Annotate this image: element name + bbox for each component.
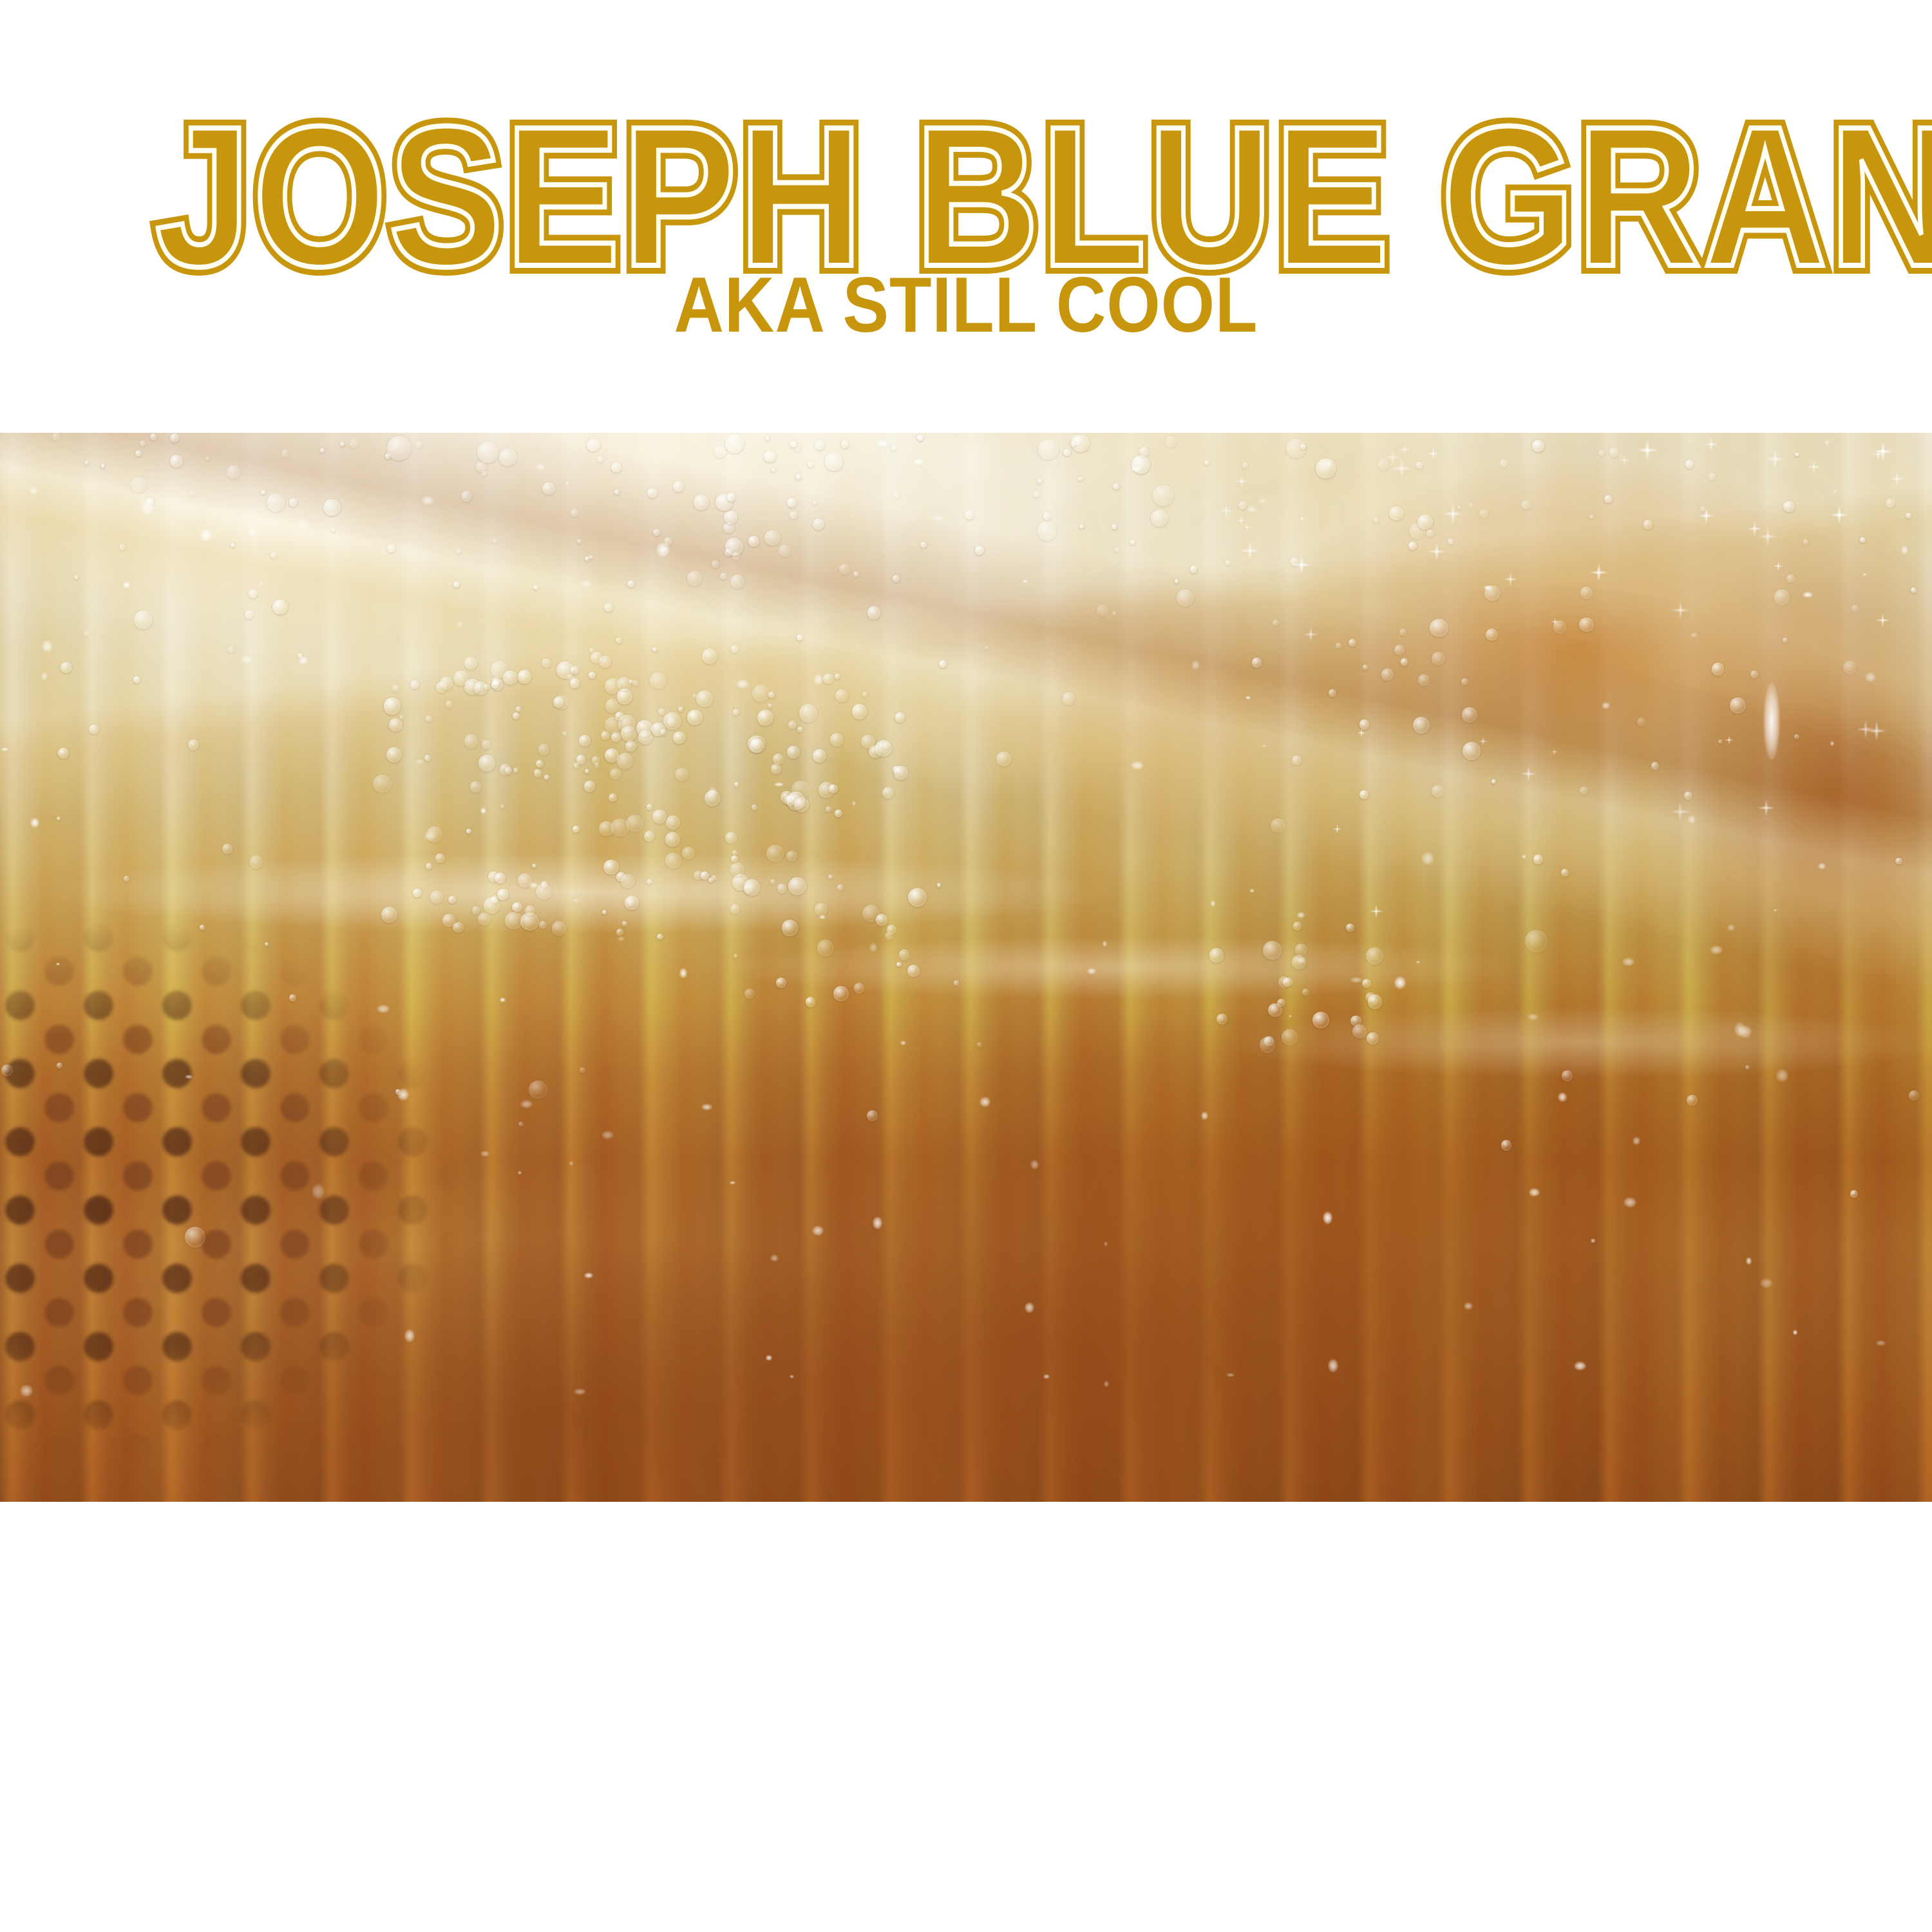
sparkle-highlight bbox=[1437, 498, 1468, 529]
honey-bubble bbox=[1418, 674, 1430, 686]
sparkle-highlight bbox=[1235, 535, 1265, 566]
honey-bubble bbox=[205, 457, 209, 460]
honey-bubble bbox=[552, 921, 566, 935]
honey-bubble bbox=[1177, 589, 1194, 607]
honey-bubble bbox=[611, 462, 621, 473]
specular-glint bbox=[730, 1181, 735, 1184]
honey-bubble bbox=[765, 436, 770, 440]
honey-bubble bbox=[628, 901, 632, 905]
honey-bubble bbox=[456, 549, 461, 554]
honey-bubble bbox=[712, 560, 719, 568]
specular-glint bbox=[679, 968, 688, 978]
honey-bubble bbox=[587, 439, 600, 452]
specular-glint bbox=[1043, 1374, 1050, 1379]
honey-bubble bbox=[939, 660, 946, 667]
honey-bubble bbox=[673, 481, 684, 492]
honey-bubble bbox=[830, 733, 844, 746]
specular-glint bbox=[565, 481, 569, 485]
honey-bubble bbox=[410, 680, 419, 689]
specular-glint bbox=[123, 582, 131, 589]
sparkle-highlight bbox=[1354, 726, 1368, 740]
specular-glint bbox=[1297, 912, 1305, 918]
honey-bubble bbox=[1886, 498, 1896, 509]
honey-bubble bbox=[730, 904, 740, 914]
specular-glint bbox=[1558, 1092, 1567, 1102]
honey-bubble bbox=[1501, 1140, 1511, 1150]
honey-bubble bbox=[744, 989, 755, 999]
specular-glint bbox=[1394, 976, 1405, 989]
specular-glint bbox=[480, 1151, 489, 1156]
honey-bubble bbox=[1252, 658, 1262, 667]
sparkle-highlight bbox=[1826, 501, 1853, 529]
honey-bubble bbox=[503, 670, 517, 685]
honey-bubble bbox=[349, 439, 359, 448]
honey-bubble bbox=[477, 442, 498, 463]
honey-bubble bbox=[603, 860, 619, 875]
honey-bubble bbox=[1786, 574, 1795, 583]
honey-bubble bbox=[1906, 513, 1911, 518]
honey-bubble bbox=[770, 879, 775, 884]
specular-glint bbox=[1602, 702, 1610, 709]
sparkle-highlight bbox=[1632, 435, 1663, 466]
sparkle-highlight bbox=[1868, 436, 1899, 467]
honey-bubble bbox=[573, 826, 580, 833]
honey-bubble bbox=[1479, 509, 1488, 518]
specular-glint bbox=[618, 936, 625, 942]
honey-bubble bbox=[883, 741, 891, 749]
honey-bubble bbox=[89, 724, 99, 735]
honey-bubble bbox=[862, 692, 867, 697]
honey-bubble bbox=[1381, 668, 1394, 681]
honey-bubble bbox=[1651, 762, 1659, 770]
honey-bubble bbox=[289, 498, 298, 507]
honey-bubble bbox=[893, 575, 900, 582]
specular-glint bbox=[1104, 1242, 1108, 1246]
sparkle-highlight bbox=[1830, 486, 1840, 497]
honey-bubble bbox=[622, 921, 627, 926]
honey-bubble bbox=[1401, 658, 1408, 666]
honey-bubble bbox=[1745, 1065, 1750, 1070]
honey-bubble bbox=[1461, 678, 1468, 685]
honey-bubble bbox=[1709, 473, 1716, 480]
specular-glint bbox=[656, 542, 669, 557]
honey-bubble bbox=[1037, 521, 1057, 541]
honey-bubble bbox=[1413, 717, 1430, 734]
honey-bubble bbox=[788, 877, 806, 895]
honey-bubble bbox=[577, 539, 582, 544]
specular-glint bbox=[1300, 517, 1303, 520]
honey-bubble bbox=[1263, 941, 1282, 960]
honey-bubble bbox=[1604, 495, 1612, 503]
specular-glint bbox=[569, 1161, 573, 1166]
honey-bubble bbox=[135, 450, 142, 457]
honey-bubble bbox=[1598, 450, 1605, 457]
specular-glint bbox=[248, 527, 256, 536]
honey-bubble bbox=[815, 903, 828, 916]
honey-bubble bbox=[1783, 501, 1794, 512]
sparkle-highlight bbox=[1754, 522, 1781, 550]
honey-bubble bbox=[725, 832, 736, 843]
specular-glint bbox=[1298, 957, 1305, 963]
honey-bubble bbox=[920, 542, 927, 548]
honey-bubble bbox=[57, 817, 61, 820]
honey-bubble bbox=[189, 490, 196, 497]
honey-bubble bbox=[1795, 453, 1799, 457]
honey-bubble bbox=[644, 831, 655, 842]
honey-bubble bbox=[1312, 1012, 1329, 1028]
honey-bubble bbox=[140, 440, 146, 446]
specular-glint bbox=[1131, 761, 1144, 770]
honey-bubble bbox=[1359, 790, 1368, 799]
honey-bubble bbox=[534, 769, 542, 777]
specular-glint bbox=[1103, 941, 1106, 947]
honey-bubble bbox=[1462, 707, 1478, 723]
honey-bubble bbox=[602, 910, 607, 914]
honey-bubble bbox=[553, 697, 564, 708]
honey-bubble bbox=[768, 703, 772, 708]
specular-glint bbox=[913, 459, 923, 464]
sparkle-highlight bbox=[1500, 569, 1521, 590]
honey-bubble bbox=[532, 864, 536, 868]
honey-bubble bbox=[272, 600, 288, 615]
specular-glint bbox=[457, 621, 462, 627]
specular-glint bbox=[20, 1385, 33, 1397]
sparkle-highlight bbox=[1423, 538, 1450, 565]
sparkle-highlight bbox=[1549, 616, 1561, 628]
honey-bubble bbox=[1367, 1032, 1379, 1045]
honey-bubble bbox=[1346, 923, 1354, 932]
honey-bubble bbox=[1352, 1025, 1366, 1038]
photo-sparkle-layer bbox=[0, 433, 1932, 1502]
specular-glint bbox=[601, 1131, 614, 1139]
honey-bubble bbox=[788, 721, 797, 729]
specular-glint bbox=[1350, 977, 1362, 983]
honey-bubble bbox=[708, 878, 713, 882]
honey-bubble bbox=[591, 652, 602, 663]
honey-bubble bbox=[513, 768, 518, 773]
specular-glint bbox=[241, 655, 252, 663]
honey-bubble bbox=[1273, 620, 1279, 626]
honey-bubble bbox=[757, 710, 773, 726]
honey-bubble bbox=[1226, 560, 1231, 566]
sparkle-highlight bbox=[1424, 444, 1443, 463]
honey-bubble bbox=[682, 847, 695, 860]
honey-bubble bbox=[584, 781, 596, 792]
honey-bubble bbox=[733, 709, 739, 715]
honey-bubble bbox=[228, 646, 235, 653]
specular-glint bbox=[1211, 900, 1215, 906]
honey-bubble bbox=[481, 471, 486, 476]
honey-bubble bbox=[426, 715, 432, 722]
honey-bubble bbox=[764, 530, 780, 545]
sparkle-highlight bbox=[1862, 716, 1891, 746]
honey-bubble bbox=[413, 889, 422, 898]
honey-bubble bbox=[839, 563, 850, 574]
honey-bubble bbox=[895, 712, 905, 722]
honey-bubble bbox=[617, 677, 631, 691]
honey-bubble bbox=[1750, 670, 1758, 678]
honey-bubble bbox=[817, 940, 834, 956]
honey-bubble bbox=[611, 819, 629, 837]
honey-bubble bbox=[281, 450, 289, 457]
honey-bubble bbox=[466, 829, 471, 834]
honey-bubble bbox=[1349, 639, 1356, 647]
honey-bubble bbox=[787, 746, 800, 759]
specular-glint bbox=[1030, 1160, 1039, 1170]
honey-bubble bbox=[470, 781, 481, 792]
honey-bubble bbox=[627, 580, 635, 588]
specular-glint bbox=[766, 1355, 772, 1361]
honey-bubble bbox=[52, 433, 60, 440]
specular-glint bbox=[1818, 863, 1825, 869]
specular-glint bbox=[1421, 852, 1434, 865]
honey-bubble bbox=[799, 704, 818, 723]
specular-glint bbox=[790, 1375, 794, 1379]
sparkle-highlight bbox=[1331, 822, 1344, 836]
specular-glint bbox=[298, 656, 307, 665]
sparkle-highlight bbox=[1694, 504, 1719, 528]
honey-bubble bbox=[461, 491, 472, 502]
honey-bubble bbox=[1843, 661, 1857, 674]
honey-bubble bbox=[472, 906, 480, 914]
honey-bubble bbox=[604, 603, 612, 612]
honey-bubble bbox=[731, 645, 739, 653]
honey-bubble bbox=[764, 450, 776, 462]
specular-glint bbox=[312, 1184, 325, 1199]
honey-bubble bbox=[1362, 979, 1371, 988]
honey-bubble bbox=[289, 994, 296, 1001]
honey-bubble bbox=[748, 536, 759, 546]
honey-bubble bbox=[389, 718, 402, 732]
honey-bubble bbox=[392, 685, 399, 692]
honey-bubble bbox=[579, 735, 591, 746]
specular-glint bbox=[1688, 815, 1695, 824]
honey-bubble bbox=[1363, 665, 1368, 670]
specular-glint bbox=[1876, 1340, 1886, 1346]
honey-bubble bbox=[446, 701, 453, 708]
specular-glint bbox=[819, 915, 826, 919]
specular-glint bbox=[480, 808, 486, 814]
honey-bubble bbox=[658, 708, 665, 715]
honey-bubble bbox=[1, 1065, 13, 1076]
honey-bubble bbox=[1079, 524, 1084, 529]
honey-bubble bbox=[1687, 1095, 1698, 1106]
honey-bubble bbox=[647, 804, 652, 810]
honey-bubble bbox=[516, 706, 521, 712]
honey-bubble bbox=[833, 986, 849, 1002]
honey-bubble bbox=[387, 544, 395, 552]
honey-bubble bbox=[663, 712, 681, 730]
honey-bubble bbox=[632, 680, 638, 686]
honey-bubble bbox=[435, 853, 445, 863]
honey-bubble bbox=[813, 518, 824, 530]
honey-bubble bbox=[786, 851, 797, 862]
honey-bubble bbox=[1063, 449, 1071, 457]
honey-bubble bbox=[499, 448, 517, 466]
honey-bubble bbox=[1850, 1190, 1858, 1198]
specular-glint bbox=[1591, 1238, 1596, 1243]
honey-bubble bbox=[1190, 565, 1197, 573]
specular-glint bbox=[1258, 498, 1267, 504]
sparkle-highlight bbox=[1517, 762, 1540, 785]
honey-bubble bbox=[448, 896, 456, 904]
honey-bubble bbox=[323, 499, 340, 516]
honey-bubble bbox=[1115, 547, 1120, 553]
honeycomb-photo bbox=[0, 433, 1932, 1502]
honey-bubble bbox=[885, 932, 893, 940]
specular-glint bbox=[141, 498, 155, 515]
honey-bubble bbox=[1426, 529, 1434, 537]
honey-bubble bbox=[702, 649, 718, 665]
specular-glint bbox=[812, 1226, 824, 1236]
honey-bubble bbox=[1579, 618, 1594, 632]
honey-bubble bbox=[772, 468, 776, 473]
honey-bubble bbox=[373, 775, 391, 793]
specular-glint bbox=[1104, 1381, 1109, 1387]
honey-bubble bbox=[1486, 629, 1498, 641]
honey-bubble bbox=[1851, 605, 1859, 612]
honey-bubble bbox=[533, 585, 538, 590]
honey-bubble bbox=[500, 804, 504, 808]
honey-bubble bbox=[782, 920, 798, 936]
sparkle-highlight bbox=[1287, 550, 1316, 580]
specular-glint bbox=[1023, 580, 1028, 582]
honey-bubble bbox=[894, 766, 908, 780]
honey-bubble bbox=[1153, 485, 1174, 506]
honey-bubble bbox=[1366, 947, 1383, 965]
specular-glint bbox=[1529, 1188, 1540, 1197]
honey-bubble bbox=[790, 511, 797, 519]
specular-glint bbox=[520, 1100, 533, 1108]
specular-glint bbox=[701, 1104, 712, 1110]
specular-glint bbox=[1774, 909, 1777, 911]
honey-bubble bbox=[478, 913, 490, 925]
sparkle-highlight bbox=[1260, 741, 1269, 750]
sparkle-highlight bbox=[1667, 597, 1694, 623]
specular-glint bbox=[1830, 741, 1834, 746]
specular-glint bbox=[421, 496, 434, 504]
honey-bubble bbox=[1112, 524, 1117, 529]
honey-bubble bbox=[542, 658, 551, 668]
specular-glint bbox=[415, 759, 424, 764]
honey-bubble bbox=[665, 853, 681, 869]
honey-bubble bbox=[625, 741, 636, 752]
honey-bubble bbox=[512, 902, 522, 913]
honey-bubble bbox=[84, 630, 90, 637]
honey-bubble bbox=[340, 442, 345, 446]
honey-bubble bbox=[616, 929, 623, 936]
honey-bubble bbox=[725, 434, 744, 453]
sparkle-highlight bbox=[1466, 499, 1476, 509]
specular-glint bbox=[1245, 696, 1251, 699]
honey-bubble bbox=[907, 965, 920, 977]
honey-bubble bbox=[882, 787, 894, 799]
honey-bubble bbox=[544, 775, 549, 780]
sparkle-highlight bbox=[1585, 559, 1612, 586]
honey-bubble bbox=[1911, 587, 1917, 593]
honey-bubble bbox=[1783, 638, 1788, 643]
honey-bubble bbox=[1242, 462, 1248, 468]
specular-glint bbox=[813, 674, 823, 685]
honey-bubble bbox=[415, 441, 422, 448]
honey-bubble bbox=[1293, 922, 1302, 930]
honey-bubble bbox=[797, 726, 804, 733]
specular-glint bbox=[500, 998, 506, 1002]
specular-glint bbox=[574, 1388, 585, 1395]
honey-bubble bbox=[518, 1122, 524, 1127]
honey-bubble bbox=[977, 1042, 982, 1047]
honey-bubble bbox=[538, 744, 549, 755]
honey-bubble bbox=[1078, 477, 1083, 481]
specular-glint bbox=[1624, 1197, 1636, 1208]
specular-glint bbox=[873, 1217, 882, 1229]
honey-bubble bbox=[787, 498, 797, 507]
honey-bubble bbox=[1521, 500, 1531, 510]
honey-bubble bbox=[766, 845, 783, 862]
honey-bubble bbox=[589, 672, 596, 679]
specular-glint bbox=[1793, 1330, 1797, 1335]
sparkle-highlight bbox=[1771, 558, 1786, 574]
specular-glint bbox=[1901, 545, 1908, 554]
specular-glint bbox=[584, 1273, 593, 1278]
specular-glint bbox=[869, 943, 877, 952]
honey-bubble bbox=[381, 907, 397, 923]
specular-glint bbox=[1622, 958, 1634, 967]
honey-bubble bbox=[725, 538, 743, 556]
honey-bubble bbox=[876, 914, 888, 926]
sparkle-highlight bbox=[1396, 440, 1414, 459]
specular-glint bbox=[770, 1255, 779, 1262]
honey-bubble bbox=[899, 949, 910, 960]
honey-bubble bbox=[1292, 755, 1302, 765]
honey-bubble bbox=[657, 934, 663, 940]
sparkle-highlight bbox=[1215, 499, 1238, 522]
honey-bubble bbox=[245, 610, 254, 619]
honey-bubble bbox=[562, 731, 567, 736]
honey-bubble bbox=[813, 749, 826, 762]
honey-bubble bbox=[815, 440, 824, 450]
honey-bubble bbox=[464, 734, 478, 748]
honey-bubble bbox=[835, 674, 840, 679]
honey-bubble bbox=[320, 448, 325, 453]
honey-bubble bbox=[605, 717, 621, 733]
honey-bubble bbox=[867, 1110, 878, 1122]
honey-bubble bbox=[652, 810, 667, 824]
specular-glint bbox=[1201, 1112, 1208, 1119]
honey-bubble bbox=[731, 855, 738, 862]
specular-glint bbox=[42, 640, 53, 653]
honey-bubble bbox=[1204, 460, 1209, 465]
honey-bubble bbox=[200, 925, 205, 930]
honey-bubble bbox=[1365, 992, 1375, 1002]
specular-glint bbox=[1574, 1361, 1586, 1370]
specular-glint bbox=[1, 748, 8, 751]
honey-bubble bbox=[464, 657, 477, 670]
honey-bubble bbox=[678, 706, 683, 712]
honey-bubble bbox=[696, 690, 712, 706]
specular-glint bbox=[56, 963, 61, 965]
honey-bubble bbox=[188, 739, 199, 750]
honey-bubble bbox=[652, 647, 657, 652]
honey-bubble bbox=[261, 490, 265, 495]
honey-bubble bbox=[776, 978, 786, 988]
honey-bubble bbox=[1492, 779, 1496, 784]
honey-bubble bbox=[536, 884, 552, 900]
honey-bubble bbox=[119, 544, 126, 550]
specular-glint bbox=[900, 1041, 905, 1045]
honey-bubble bbox=[518, 670, 531, 683]
honey-bubble bbox=[536, 760, 544, 768]
